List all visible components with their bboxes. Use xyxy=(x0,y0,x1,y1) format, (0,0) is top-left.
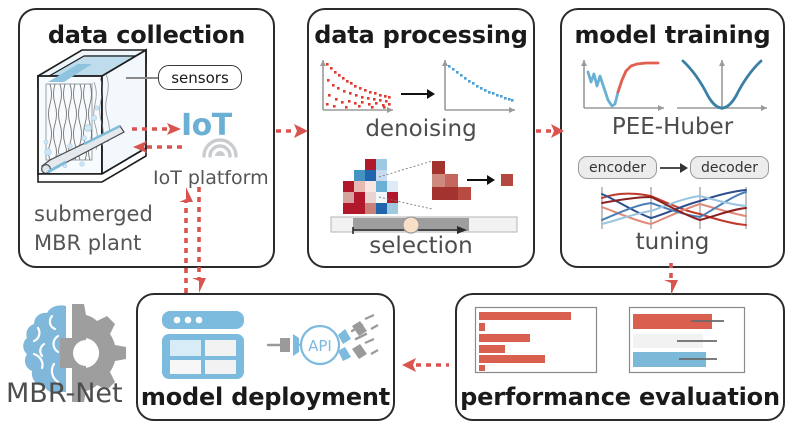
arrow-denoising-transform xyxy=(401,88,435,100)
arrow-training-to-evaluation xyxy=(664,262,678,296)
panel-performance-evaluation: performance evaluation xyxy=(455,293,785,421)
decoder-label: decoder xyxy=(701,160,758,176)
chart-feature-selection-heatmap xyxy=(335,157,520,213)
encoder-block: encoder xyxy=(578,156,657,179)
chart-feature-importance xyxy=(475,307,597,373)
panel-model-deployment: API xyxy=(136,293,395,421)
sensors-leader-line xyxy=(126,77,162,79)
arrow-collection-to-deployment xyxy=(192,186,206,294)
panel-title-model-training: model training xyxy=(562,21,783,49)
submerged-mbr-plant-illustration xyxy=(24,38,159,188)
dashboard-icon xyxy=(160,309,246,381)
panel-title-data-processing: data processing xyxy=(309,21,533,49)
plant-label-line1: submerged xyxy=(34,202,153,226)
chart-denoising-clean xyxy=(439,54,519,116)
arrow-collection-to-processing xyxy=(275,124,309,138)
arrow-deployment-to-collection xyxy=(179,186,193,294)
plant-label-line2: MBR plant xyxy=(34,231,141,255)
svg-text:API: API xyxy=(308,337,332,355)
chart-model-comparison xyxy=(629,307,745,373)
denoising-label: denoising xyxy=(309,116,533,142)
tuning-label: tuning xyxy=(562,229,783,255)
arrow-iot-to-plant xyxy=(131,140,183,154)
iot-logo: IoT xyxy=(180,108,260,164)
pee-huber-label: PEE-Huber xyxy=(562,114,783,140)
panel-model-training: model training PEE-Huber xyxy=(560,8,785,268)
panel-title-performance-evaluation: performance evaluation xyxy=(457,383,783,411)
selection-slider[interactable] xyxy=(331,216,517,234)
panel-data-processing: data processing xyxy=(307,8,535,268)
arrow-encoder-to-decoder xyxy=(660,162,688,174)
panel-title-model-deployment: model deployment xyxy=(138,383,393,411)
arrow-evaluation-to-deployment xyxy=(400,358,450,372)
encoder-label: encoder xyxy=(589,160,646,176)
iot-platform-label: IoT platform xyxy=(153,167,269,189)
chart-hyperparameter-tuning xyxy=(598,187,750,231)
arrow-processing-to-training xyxy=(535,124,565,138)
arrow-plant-to-iot xyxy=(131,122,183,136)
panel-data-collection: data collection xyxy=(18,8,275,268)
chart-denoising-noisy xyxy=(317,54,397,116)
sensors-label: sensors xyxy=(158,65,242,90)
chart-pee-huber-loss-shape xyxy=(675,54,771,116)
decoder-block: decoder xyxy=(690,156,769,179)
sensors-label-text: sensors xyxy=(171,69,229,87)
workflow-figure: data collection xyxy=(0,0,800,429)
selection-label: selection xyxy=(309,233,533,259)
chart-pee-huber-loss-history xyxy=(576,54,668,116)
mbr-net-label: MBR-Net xyxy=(6,378,123,409)
api-icon: API xyxy=(266,309,378,381)
svg-text:IoT: IoT xyxy=(181,108,233,143)
